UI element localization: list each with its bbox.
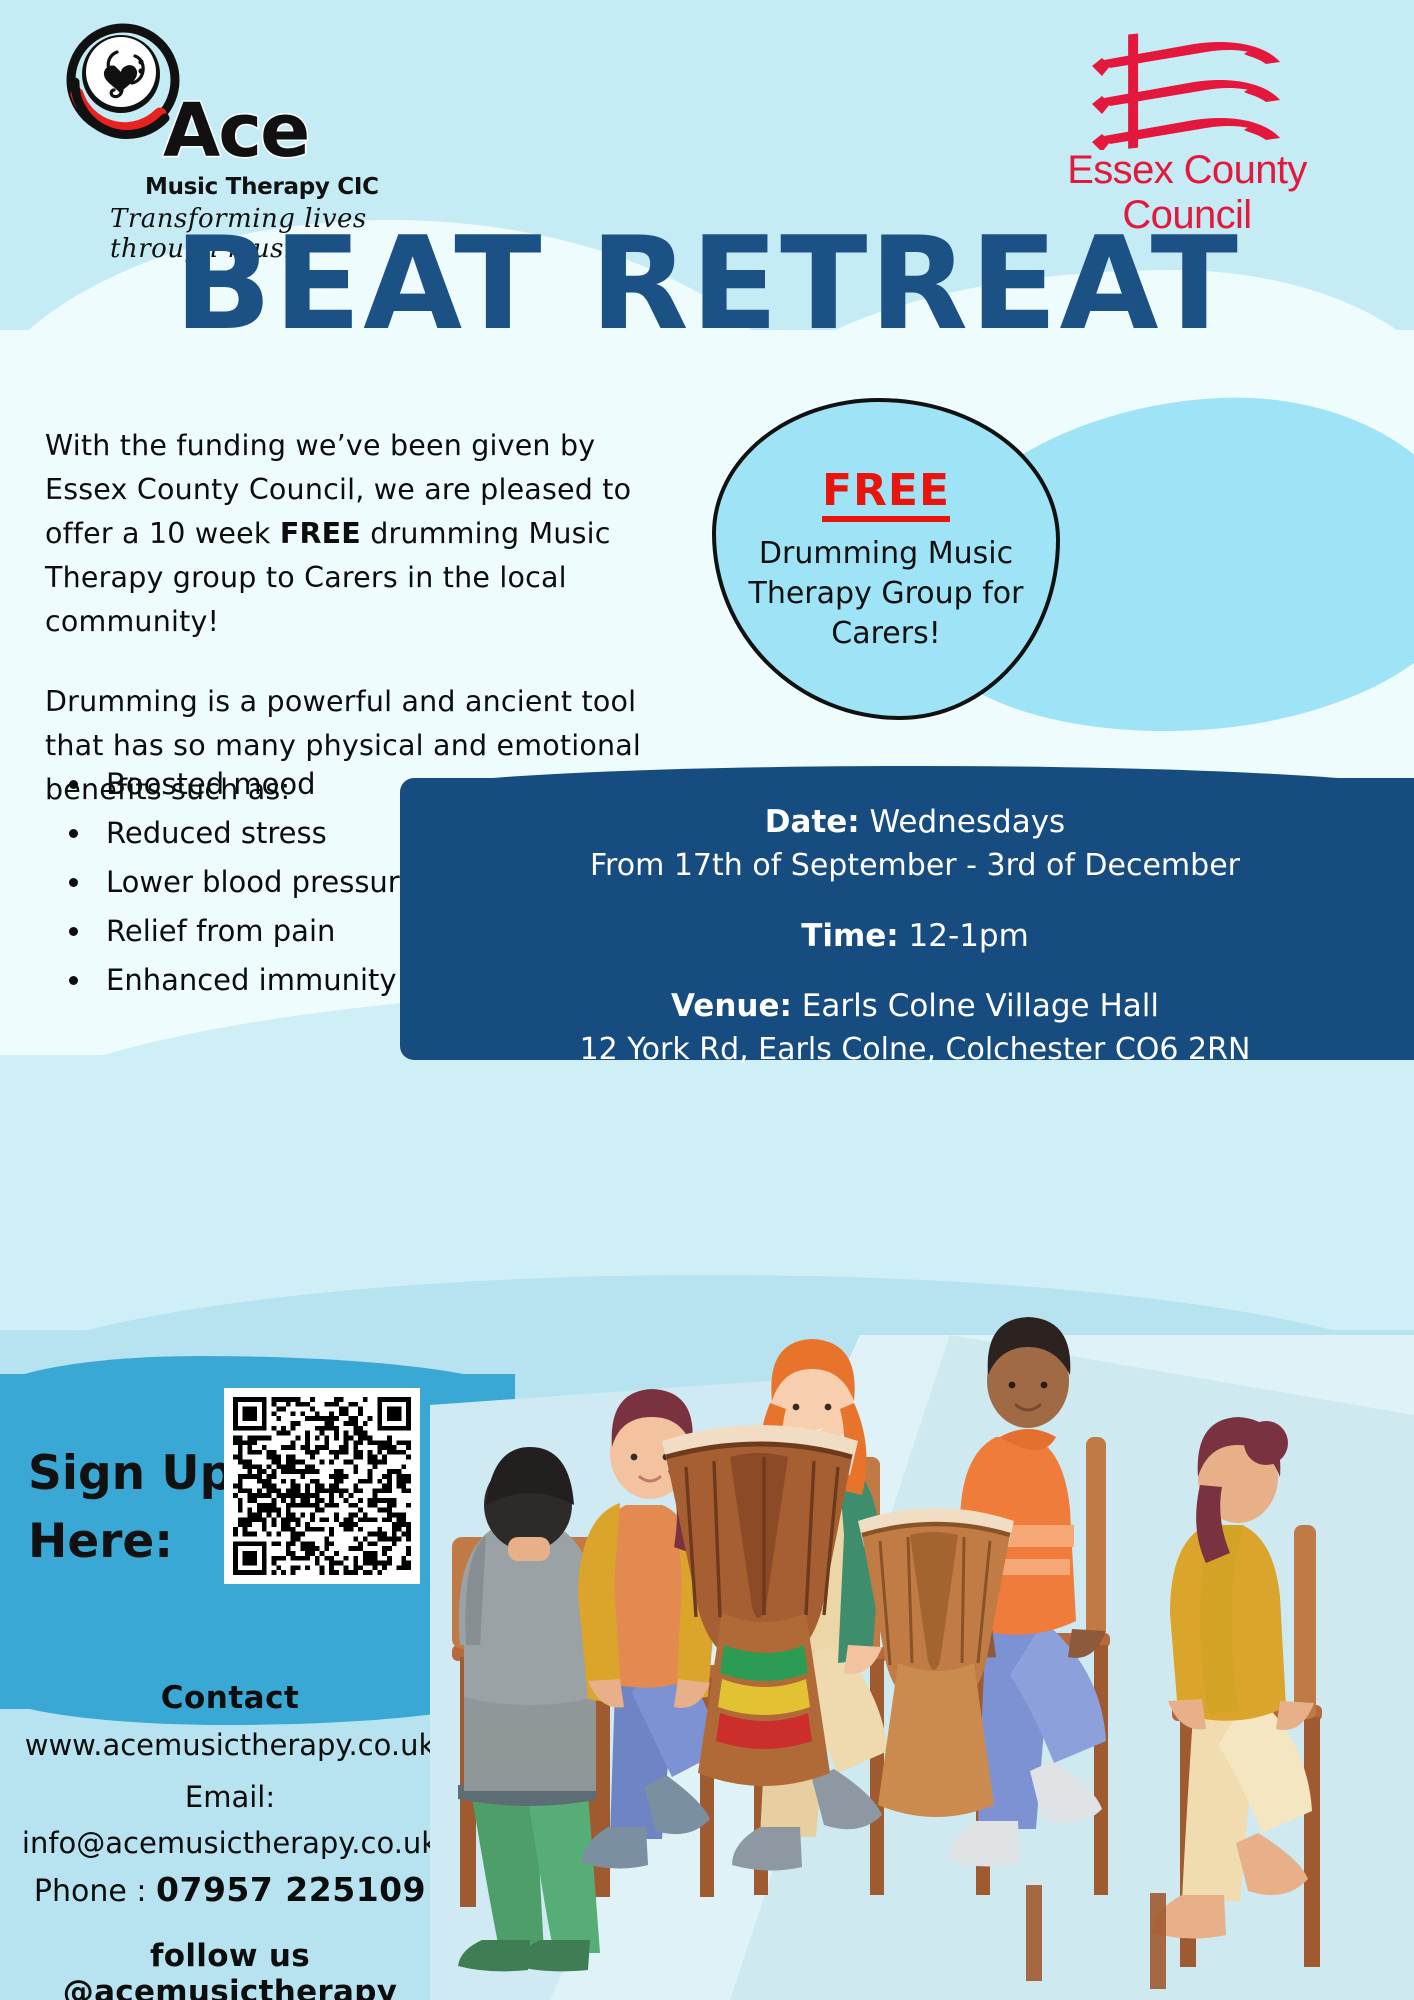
ace-subtitle: Music Therapy CIC	[145, 174, 379, 200]
bubble-subtext: Drumming Music Therapy Group for Carers!	[732, 534, 1040, 654]
time-label: Time:	[801, 918, 899, 954]
venue-value: Earls Colne Village Hall	[792, 988, 1159, 1024]
bubble-content: FREE Drumming Music Therapy Group for Ca…	[712, 398, 1060, 720]
detail-time: Time: 12-1pm	[444, 914, 1386, 958]
detail-spacer-2	[444, 958, 1386, 984]
contact-phone: Phone : 07957 225109	[10, 1866, 450, 1916]
three-seaxes-icon	[1022, 30, 1352, 150]
free-offer-bubble: FREE Drumming Music Therapy Group for Ca…	[712, 398, 1060, 720]
ace-logo: Ace Music Therapy CIC Transforming lives…	[55, 22, 385, 222]
date-value: Wednesdays	[860, 804, 1065, 840]
venue-label: Venue:	[671, 988, 792, 1024]
detail-spacer-1	[444, 888, 1386, 914]
phone-label: Phone :	[34, 1874, 156, 1909]
detail-address: 12 York Rd, Earls Colne, Colchester CO6 …	[444, 1028, 1386, 1072]
intro-copy: With the funding we’ve been given by Ess…	[45, 424, 685, 812]
intro-paragraph-1: With the funding we’ve been given by Ess…	[45, 424, 685, 644]
time-value: 12-1pm	[899, 918, 1029, 954]
intro-p1-free: FREE	[280, 517, 361, 550]
detail-date-range: From 17th of September - 3rd of December	[444, 844, 1386, 888]
detail-date: Date: Wednesdays	[444, 800, 1386, 844]
qr-code[interactable]	[224, 1388, 420, 1584]
date-label: Date:	[765, 804, 860, 840]
drum-circle-art	[430, 1085, 1414, 2000]
contact-social: follow us @acemusictherapy	[10, 1938, 450, 2000]
event-details-content: Date: Wednesdays From 17th of September …	[400, 778, 1414, 1060]
signup-label: Sign Up Here:	[28, 1440, 238, 1576]
drum-circle-illustration	[430, 1085, 1414, 2000]
contact-title: Contact	[10, 1680, 450, 1716]
contact-block: Contact www.acemusictherapy.co.uk Email:…	[10, 1680, 450, 2000]
page-title: BEAT RETREAT	[0, 218, 1414, 352]
bubble-headline: FREE	[822, 468, 950, 522]
ace-wordmark: Ace	[163, 94, 308, 168]
poster-root: Ace Music Therapy CIC Transforming lives…	[0, 0, 1414, 2000]
essex-county-council-logo: Essex County Council	[1022, 30, 1352, 205]
detail-venue: Venue: Earls Colne Village Hall	[444, 984, 1386, 1028]
contact-website[interactable]: www.acemusictherapy.co.uk	[10, 1722, 450, 1768]
event-details-panel: Date: Wednesdays From 17th of September …	[400, 778, 1414, 1060]
qr-code-image	[233, 1397, 411, 1575]
contact-email[interactable]: Email: info@acemusictherapy.co.uk	[10, 1774, 450, 1866]
phone-number: 07957 225109	[156, 1870, 426, 1909]
